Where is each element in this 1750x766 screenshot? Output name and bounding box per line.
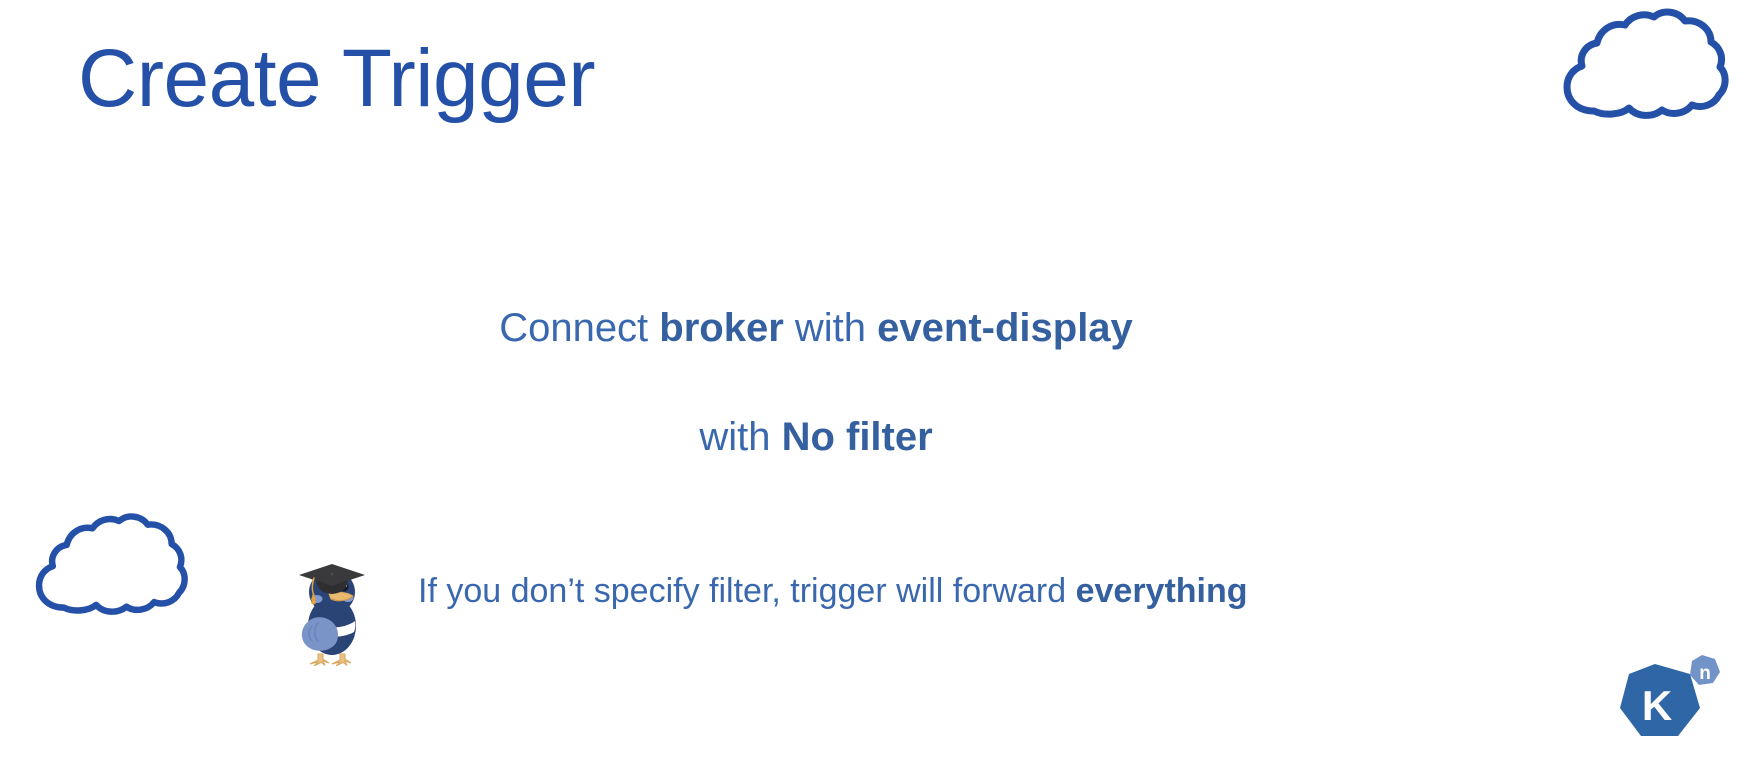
body-line-filter: with No filter	[0, 414, 1750, 460]
knative-letter-n: n	[1699, 663, 1711, 684]
body-line-connect: Connect broker with event-display	[0, 305, 1750, 351]
line-connect-middle: with	[784, 306, 877, 350]
slide-canvas: Create Trigger Connect broker with event…	[0, 0, 1750, 766]
line-filter-prefix: with	[699, 415, 781, 459]
graduate-bird-mascot-icon	[292, 556, 372, 671]
page-title: Create Trigger	[78, 38, 595, 120]
line-connect-strong-broker: broker	[659, 306, 784, 350]
line-connect-prefix: Connect	[499, 306, 659, 350]
line-note-strong-everything: everything	[1076, 572, 1248, 610]
cloud-outline-icon	[1542, 8, 1732, 133]
line-connect-strong-event-display: event-display	[877, 306, 1133, 350]
knative-letter-k: K	[1642, 682, 1672, 729]
knative-logo: K n	[1614, 648, 1724, 758]
line-note-prefix: If you don’t specify filter, trigger wil…	[418, 572, 1076, 610]
body-line-note: If you don’t specify filter, trigger wil…	[418, 572, 1248, 611]
line-filter-strong-no-filter: No filter	[782, 415, 933, 459]
cloud-outline-icon	[16, 512, 191, 629]
